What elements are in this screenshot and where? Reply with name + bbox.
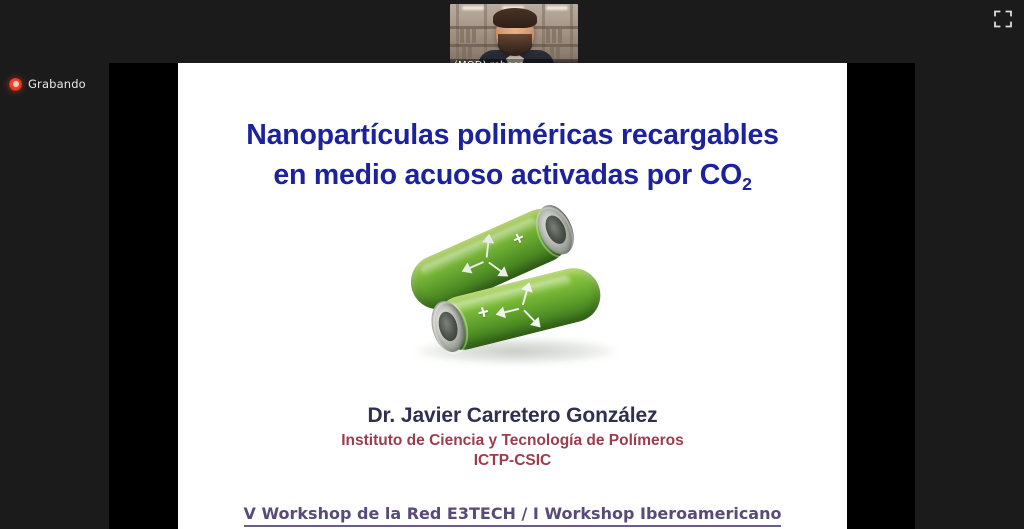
recording-indicator[interactable]: Grabando [9,77,86,91]
event-title: V Workshop de la Red E3TECH / I Workshop… [178,504,847,523]
shared-screen-stage[interactable]: Nanopartículas poliméricas recargables e… [109,63,915,529]
participant-beard [498,34,532,56]
meeting-screen-share-view: (MOD) rebeca ... Grabando Nanopartículas… [0,0,1024,529]
recyclable-batteries-image: + + [400,226,630,376]
slide-title-line-2: en medio acuoso activadas por CO2 [178,155,847,198]
slide-title-line-2-text: en medio acuoso activadas por CO [273,159,742,191]
slide-title-line-1: Nanopartículas poliméricas recargables [246,119,779,151]
recycle-icon [491,278,553,337]
recording-label: Grabando [28,77,86,91]
speaker-institute: ICTP-CSIC [178,451,847,470]
record-dot-icon [9,78,22,91]
slide-title-subscript: 2 [742,174,752,194]
presentation-slide[interactable]: Nanopartículas poliméricas recargables e… [178,63,847,529]
speaker-affiliation: Instituto de Ciencia y Tecnología de Pol… [178,431,847,451]
speaker-block: Dr. Javier Carretero González Instituto … [178,403,847,470]
speaker-name: Dr. Javier Carretero González [178,403,847,429]
event-title-text: V Workshop de la Red E3TECH / I Workshop… [244,504,782,527]
slide-title: Nanopartículas poliméricas recargables e… [178,115,847,198]
fullscreen-icon[interactable] [992,8,1014,30]
participant-hair [493,8,537,28]
